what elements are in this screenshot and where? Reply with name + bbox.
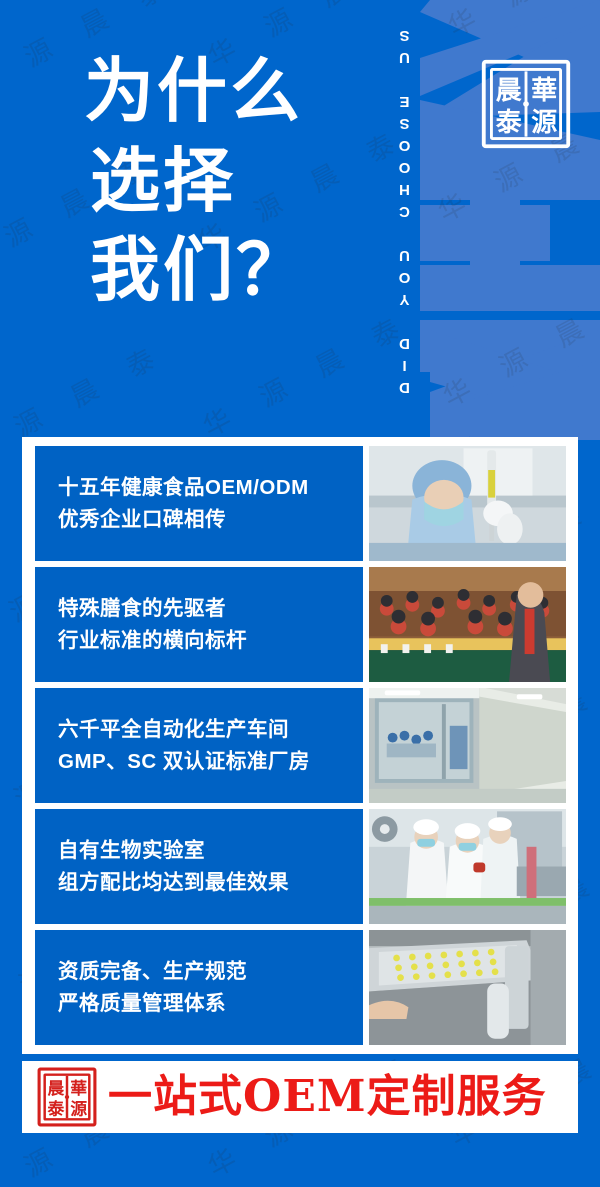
svg-text:晨: 晨 — [47, 1078, 64, 1098]
feature-photo-blister-packaging — [369, 930, 566, 1045]
feature-photo-lab-technician — [369, 446, 566, 561]
feature-row: 自有生物实验室 组方配比均达到最佳效果 — [35, 809, 566, 924]
svg-text:華: 華 — [70, 1078, 87, 1098]
poster-root: 为什么 选择 我们？ DID YOU CHOOSE US 晨 華 泰 源 — [0, 0, 600, 1187]
features-list: 十五年健康食品OEM/ODM 优秀企业口碑相传 — [35, 446, 566, 1045]
feature-photo-conference-audience — [369, 567, 566, 682]
page-title: 为什么 选择 我们？ — [84, 46, 404, 315]
feature-row: 十五年健康食品OEM/ODM 优秀企业口碑相传 — [35, 446, 566, 561]
page-title-line-3: 我们？ — [90, 225, 404, 315]
feature-line-1: 自有生物实验室 — [58, 835, 363, 867]
feature-photo-cleanroom-corridor — [369, 688, 566, 803]
feature-line-2: 行业标准的横向标杆 — [58, 625, 363, 657]
hero-section: 为什么 选择 我们？ DID YOU CHOOSE US 晨 華 泰 源 — [0, 0, 600, 437]
feature-line-1: 资质完备、生产规范 — [58, 956, 363, 988]
feature-text-block: 特殊膳食的先驱者 行业标准的横向标杆 — [35, 567, 363, 682]
feature-text-block: 自有生物实验室 组方配比均达到最佳效果 — [35, 809, 363, 924]
feature-text-block: 资质完备、生产规范 严格质量管理体系 — [35, 930, 363, 1045]
feature-text-block: 六千平全自动化生产车间 GMP、SC 双认证标准厂房 — [35, 688, 363, 803]
svg-text:華: 華 — [531, 76, 557, 106]
features-panel: 十五年健康食品OEM/ODM 优秀企业口碑相传 — [22, 437, 578, 1054]
svg-text:泰: 泰 — [496, 108, 523, 138]
footer-seal-icon: 晨 華 泰 源 — [36, 1066, 98, 1128]
vertical-tagline: DID YOU CHOOSE US — [396, 16, 424, 396]
feature-row: 六千平全自动化生产车间 GMP、SC 双认证标准厂房 — [35, 688, 566, 803]
feature-row: 资质完备、生产规范 严格质量管理体系 — [35, 930, 566, 1045]
brand-seal-icon: 晨 華 泰 源 — [478, 56, 574, 152]
svg-text:源: 源 — [70, 1098, 87, 1118]
feature-line-2: 优秀企业口碑相传 — [58, 504, 363, 536]
feature-line-1: 特殊膳食的先驱者 — [58, 593, 363, 625]
page-title-line-2: 选择 — [90, 136, 404, 226]
svg-text:晨: 晨 — [496, 76, 522, 106]
feature-line-1: 六千平全自动化生产车间 — [58, 714, 363, 746]
feature-line-2: 严格质量管理体系 — [58, 988, 363, 1020]
feature-text-block: 十五年健康食品OEM/ODM 优秀企业口碑相传 — [35, 446, 363, 561]
feature-photo-production-line-workers — [369, 809, 566, 924]
feature-line-1: 十五年健康食品OEM/ODM — [58, 472, 363, 504]
svg-text:源: 源 — [531, 108, 557, 138]
page-title-line-1: 为什么 — [84, 46, 404, 136]
feature-line-2: 组方配比均达到最佳效果 — [58, 867, 363, 899]
feature-line-2: GMP、SC 双认证标准厂房 — [58, 746, 363, 778]
footer-banner: 晨 華 泰 源 一站式OEM定制服务 — [22, 1061, 578, 1133]
feature-row: 特殊膳食的先驱者 行业标准的横向标杆 — [35, 567, 566, 682]
footer-headline: 一站式OEM定制服务 — [108, 1075, 547, 1119]
svg-text:泰: 泰 — [47, 1098, 64, 1118]
